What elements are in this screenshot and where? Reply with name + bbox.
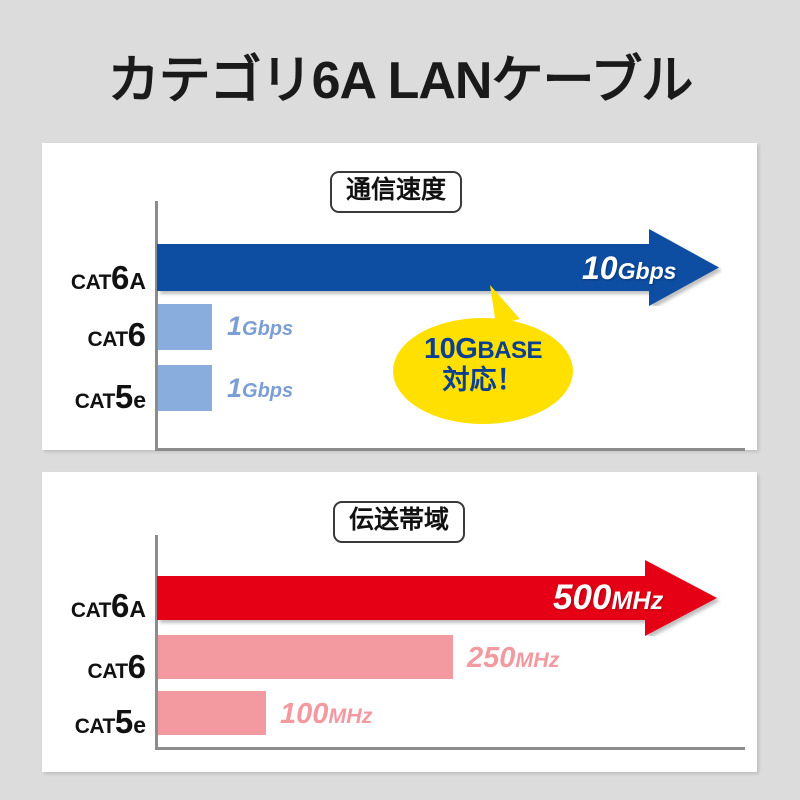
bandwidth-value-cat6a: 500MHz (553, 580, 663, 615)
speed-row-label-cat5e-num: 5 (115, 378, 133, 415)
bandwidth-value-cat5e-number: 100 (280, 698, 328, 730)
bandwidth-value-cat6-unit: MHz (515, 648, 559, 672)
bandwidth-row-label-cat6-prefix: CAT (88, 660, 128, 683)
speed-value-cat5e: 1Gbps (227, 375, 293, 402)
speed-row-label-cat6-num: 6 (128, 316, 146, 353)
speed-value-cat6: 1Gbps (227, 313, 293, 340)
bandwidth-value-cat6a-unit: MHz (611, 587, 663, 615)
speed-value-cat6a-number: 10 (582, 250, 618, 286)
bandwidth-chart-x-axis (155, 747, 745, 750)
speed-row-label-cat6-prefix: CAT (88, 328, 128, 351)
speed-value-cat6-number: 1 (227, 311, 242, 341)
bandwidth-row-label-cat6a: CAT6A (42, 589, 146, 622)
speed-row-label-cat5e-prefix: CAT (75, 390, 115, 413)
speed-value-cat6a-unit: Gbps (618, 258, 677, 284)
speed-row-label-cat5e: CAT5e (42, 380, 146, 413)
speed-row-label-cat6a-suffix: A (129, 268, 146, 294)
callout-bubble-text: 10GBASE 対応！ (392, 333, 574, 396)
bandwidth-row-label-cat6: CAT6 (42, 650, 146, 683)
speed-row-label-cat6: CAT6 (42, 318, 146, 351)
bandwidth-chart: CAT6A 500MHz CAT6 (42, 472, 757, 772)
bandwidth-row-label-cat6a-prefix: CAT (71, 599, 111, 622)
callout-bubble: 10GBASE 対応！ (392, 285, 574, 425)
bandwidth-row-label-cat5e-prefix: CAT (75, 715, 115, 738)
speed-bar-cat6 (158, 304, 212, 350)
speed-value-cat6a: 10Gbps (582, 252, 676, 284)
speed-value-cat5e-unit: Gbps (242, 380, 293, 402)
bandwidth-value-cat6a-number: 500 (553, 578, 611, 617)
bandwidth-row-label-cat6a-num: 6 (111, 587, 129, 624)
speed-bar-cat5e (158, 365, 212, 411)
callout-line-1-small: BASE (477, 337, 542, 364)
bandwidth-value-cat5e-unit: MHz (328, 704, 372, 728)
speed-value-cat6-unit: Gbps (242, 318, 293, 340)
poster-root: カテゴリ6A LANケーブル 通信速度 CAT6A (0, 0, 800, 800)
callout-line-1-main: 10G (424, 333, 477, 365)
callout-line-2: 対応！ (392, 365, 574, 395)
speed-value-cat5e-number: 1 (227, 373, 242, 403)
callout-line-1: 10GBASE (392, 333, 574, 365)
bandwidth-row-label-cat5e-suffix: e (133, 712, 146, 738)
bandwidth-row-label-cat6-num: 6 (128, 648, 146, 685)
page-title: カテゴリ6A LANケーブル (0, 38, 800, 113)
bandwidth-row-label-cat5e-num: 5 (115, 703, 133, 740)
bandwidth-row-label-cat5e: CAT5e (42, 705, 146, 738)
speed-row-label-cat5e-suffix: e (133, 387, 146, 413)
bandwidth-row-label-cat6a-suffix: A (129, 596, 146, 622)
bandwidth-bar-cat6a-arrow: 500MHz (157, 560, 722, 636)
speed-row-label-cat6a-prefix: CAT (71, 271, 111, 294)
bandwidth-bar-cat5e (158, 691, 266, 735)
speed-row-label-cat6a-num: 6 (111, 259, 129, 296)
bandwidth-chart-panel: 伝送帯域 CAT6A 500MHz (42, 472, 757, 772)
bandwidth-value-cat5e: 100MHz (280, 700, 372, 729)
bandwidth-bar-cat6 (158, 635, 453, 679)
bandwidth-value-cat6-number: 250 (467, 642, 515, 674)
speed-chart-x-axis (155, 448, 745, 451)
speed-row-label-cat6a: CAT6A (42, 261, 146, 294)
bandwidth-value-cat6: 250MHz (467, 644, 559, 673)
